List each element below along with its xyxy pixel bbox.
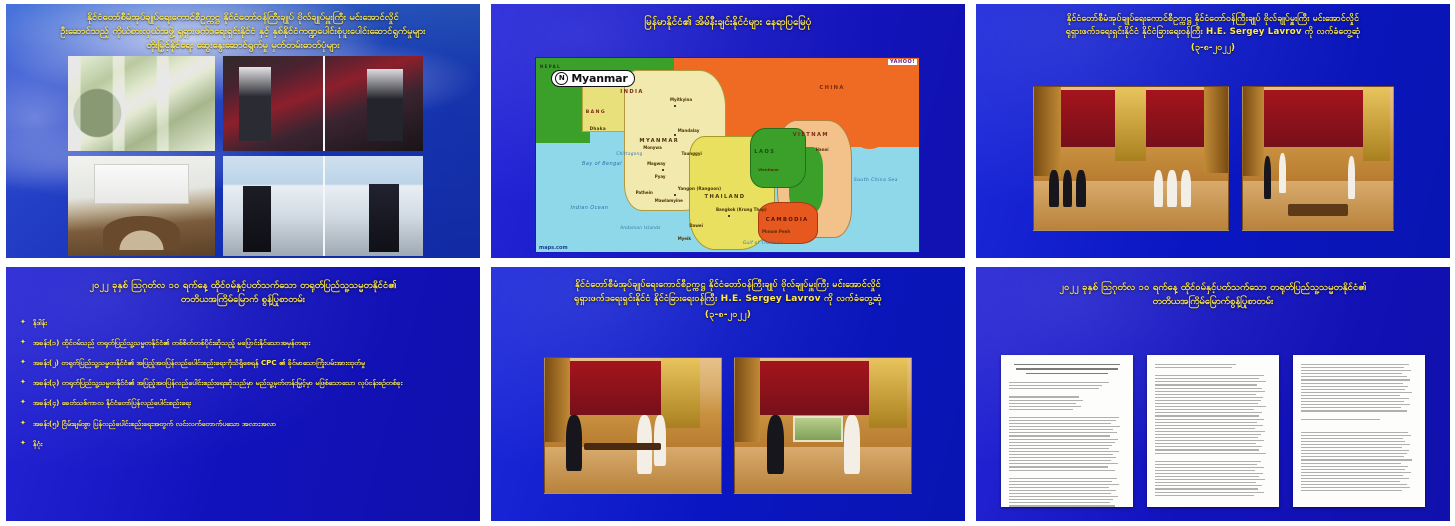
document-text-line — [1009, 454, 1113, 455]
document-text-line — [1009, 432, 1117, 433]
document-text-line — [1155, 467, 1264, 468]
document-text-line — [1301, 450, 1409, 451]
standing-aide — [1279, 153, 1287, 193]
document-text-line — [1155, 449, 1259, 450]
document-text-line — [1009, 490, 1116, 491]
slide-lavrov-meeting: နိုင်ငံတော်စီမံအုပ်ချုပ်ရေးကောင်စီဥက္ကဋ္… — [976, 4, 1450, 258]
curtain-right — [1204, 87, 1227, 173]
document-text-line — [1009, 451, 1119, 452]
slide-2-title-line-1: မြန်မာနိုင်ငံ၏ အိမ်နီးချင်းနိုင်ငံများ န… — [511, 16, 945, 30]
document-text-line — [1301, 401, 1404, 402]
map-city-vientiane: Vientiane — [758, 167, 778, 172]
slide-5-title-line-2: ရုရှားဖက်ဒရေးရှင်းနိုင်ငံ နိုင်ငံခြားရေး… — [509, 293, 947, 307]
slide-neighbour-map: မြန်မာနိုင်ငံ၏ အိမ်နီးချင်းနိုင်ငံများ န… — [491, 4, 965, 258]
document-text-line — [1301, 383, 1403, 384]
slide-1-title-line-3: တိုးမြှင့်နိုင်ရေး ဆွေးနွေးဆောင်ရွက်မှု … — [20, 39, 466, 53]
document-text-line — [1301, 487, 1410, 488]
document-text-line — [1301, 419, 1380, 420]
map-city-taunggyi: Taunggyi — [682, 151, 702, 156]
document-text-line — [1155, 403, 1258, 404]
document-text-line — [1009, 445, 1112, 446]
document-spacer — [1301, 493, 1417, 498]
document-text-line — [1155, 419, 1264, 420]
slide-panel-3[interactable]: နိုင်ငံတော်စီမံအုပ်ချုပ်ရေးကောင်စီဥက္ကဋ္… — [970, 0, 1455, 263]
document-text-line — [1009, 463, 1118, 464]
slide-5-title: နိုင်ငံတော်စီမံအုပ်ချုပ်ရေးကောင်စီဥက္ကဋ္… — [491, 267, 965, 323]
document-text-line — [1155, 453, 1266, 454]
contents-list: ✦ နိဒါန်း ✦ အခန်း(၁) ထိုင်ဝမ်သည် တရုတ်ပြ… — [20, 317, 464, 450]
bullet-marker-icon: ✦ — [20, 317, 26, 329]
map-north-pill: N Myanmar — [551, 70, 634, 87]
document-text-line — [1301, 376, 1407, 377]
red-backdrop — [1264, 90, 1375, 147]
document-text-line — [1155, 440, 1264, 441]
document-text-line — [1301, 370, 1411, 371]
document-text-line — [1009, 409, 1073, 410]
map-city-yangon: Yangon (Rangoon) — [678, 186, 721, 191]
compass-north-icon: N — [555, 72, 568, 85]
document-text-line — [1301, 386, 1408, 387]
document-text-line — [1009, 493, 1111, 494]
document-text-line — [1301, 410, 1407, 411]
document-text-line — [1009, 420, 1116, 421]
visiting-minister — [1264, 156, 1272, 199]
garden-walkway-photo — [68, 56, 215, 151]
bullet-marker-icon: ✦ — [20, 418, 26, 430]
document-text-line — [1009, 502, 1110, 503]
carpet-floor — [735, 447, 911, 493]
map-label-india: INDIA — [620, 89, 644, 95]
list-item[interactable]: ✦ အခန်း(၂) တရုတ်ပြည်သူ့သမ္မတနိုင်ငံ၏ အပြ… — [20, 357, 464, 369]
document-text-line — [1009, 460, 1111, 461]
map-city-mawlamyine: Mawlamyine — [655, 198, 683, 203]
document-text-line — [1301, 469, 1405, 470]
gilded-throne — [869, 358, 908, 428]
map-label-bay-of-bengal: Bay of Bengal — [582, 161, 622, 167]
document-text-line — [1301, 444, 1410, 445]
bullet-marker-icon: ✦ — [20, 377, 26, 389]
document-text-line — [1155, 461, 1261, 462]
curtain-left — [735, 358, 760, 442]
slide-2-title: မြန်မာနိုင်ငံ၏ အိမ်နီးချင်းနိုင်ငံများ န… — [491, 4, 965, 30]
document-heading-line — [1014, 364, 1121, 365]
gift-photo-pair — [491, 357, 965, 494]
document-heading-line — [1016, 368, 1118, 369]
slide-4-title: ၂၀၂၂ ခုနှစ် ဩဂုတ်လ ၁၀ ရက်နေ့ ထိုင်ဝမ်နှင… — [6, 267, 480, 307]
bullet-marker-icon: ✦ — [20, 397, 26, 409]
map-label-thailand: THAILAND — [705, 194, 746, 200]
list-item[interactable]: ✦ အခန်း(၅) ငြိမ်းချမ်းစွာ ပြန်လည်ပေါင်းစ… — [20, 418, 464, 430]
slide-6-title-line-1: ၂၀၂၂ ခုနှစ် ဩဂုတ်လ ၁၀ ရက်နေ့ ထိုင်ဝမ်နှင… — [990, 281, 1436, 295]
list-item-label: နိဂုံး — [33, 438, 464, 450]
list-item-label: အခန်း(၅) ငြိမ်းချမ်းစွာ ပြန်လည်ပေါင်းစည်… — [33, 418, 464, 430]
document-text-line — [1009, 499, 1113, 500]
document-text-line — [1155, 479, 1265, 480]
map-city-dot — [674, 134, 676, 136]
document-text-line — [1301, 459, 1412, 460]
document-text-line — [1301, 472, 1411, 473]
document-text-line — [1009, 457, 1116, 458]
document-text-line — [1155, 378, 1259, 379]
document-text-line — [1155, 470, 1255, 471]
document-text-line — [1155, 492, 1264, 493]
slide-delegation-collage: နိုင်ငံတော်စီမံအုပ်ချုပ်ရေးကောင်စီဥက္ကဋ္… — [6, 4, 480, 258]
list-item[interactable]: ✦ နိဒါန်း — [20, 317, 464, 329]
seated-official — [1167, 170, 1177, 207]
signing-ceremony-photo — [223, 156, 423, 256]
document-text-line — [1301, 389, 1405, 390]
list-item[interactable]: ✦ အခန်း(၄) ခေတ်သစ်ကာလ နိုင်ငံတော်ပြန်လည်… — [20, 397, 464, 409]
slide-upr-document-pages: ၂၀၂၂ ခုနှစ် ဩဂုတ်လ ၁၀ ရက်နေ့ ထိုင်ဝမ်နှင… — [976, 267, 1450, 521]
document-text-line — [1301, 367, 1404, 368]
handshake-flags-photo — [223, 56, 423, 151]
list-item-label: အခန်း(၂) တရုတ်ပြည်သူ့သမ္မတနိုင်ငံ၏ အပြည့… — [33, 357, 464, 369]
slide-lavrov-gift-exchange: နိုင်ငံတော်စီမံအုပ်ချုပ်ရေးကောင်စီဥက္ကဋ္… — [491, 267, 965, 521]
slide-3-date: (၃-၈-၂၀၂၂) — [994, 42, 1432, 55]
slide-upr-third-cycle: ၂၀၂၂ ခုနှစ် ဩဂုတ်လ ၁၀ ရက်နေ့ ထိုင်ဝမ်နှင… — [6, 267, 480, 521]
visiting-minister — [767, 415, 785, 474]
photo-collage — [68, 56, 423, 256]
document-text-line — [1009, 439, 1118, 440]
host-official — [1348, 156, 1356, 199]
map-brand-watermark: YAHOO! — [888, 59, 917, 65]
slide-contact-sheet: နိုင်ငံတော်စီမံအုပ်ချုပ်ရေးကောင်စီဥက္ကဋ္… — [0, 0, 1455, 526]
gilded-throne — [661, 358, 700, 428]
document-text-line — [1155, 473, 1263, 474]
map-city-dot — [728, 215, 730, 217]
document-text-line — [1155, 485, 1262, 486]
map-city-myitkyina: Myitkyina — [670, 97, 692, 102]
document-text-line — [1155, 431, 1265, 432]
document-text-line — [1155, 476, 1259, 477]
document-text-line — [1155, 388, 1262, 389]
map-label-cambodia: CAMBODIA — [766, 217, 809, 223]
document-text-line — [1301, 481, 1400, 482]
map-label-andaman-islands: Andaman Islands — [620, 225, 660, 230]
slide-panel-6[interactable]: ၂၀၂၂ ခုနှစ် ဩဂုတ်လ ၁၀ ရက်နေ့ ထိုင်ဝမ်နှင… — [970, 263, 1455, 526]
map-city-magway: Magway — [647, 161, 665, 166]
map-label-chittagong: Chittagong — [616, 151, 642, 156]
slide-4-title-line-1: ၂၀၂၂ ခုနှစ် ဩဂုတ်လ ၁၀ ရက်နေ့ ထိုင်ဝမ်နှင… — [20, 279, 466, 293]
document-text-line — [1155, 384, 1257, 385]
document-text-line — [1155, 425, 1263, 426]
map-credit-text: maps.com — [539, 245, 568, 251]
list-item-label: အခန်း(၃) တရုတ်ပြည်သူ့သမ္မတနိုင်ငံ၏ အပြည့… — [33, 377, 464, 389]
slide-1-title-line-2: ဦးဆောင်သည့် ကိုယ်စားလှယ်အဖွဲ့ ရုရှားဖက်ဒ… — [20, 25, 466, 39]
list-item-label: နိဒါန်း — [33, 317, 464, 329]
map-label-nepal: NEPAL — [540, 64, 561, 69]
document-text-line — [1301, 432, 1408, 433]
map-label-myanmar: MYANMAR — [639, 138, 679, 144]
map-city-dawei: Dawei — [689, 223, 703, 228]
list-item[interactable]: ✦ အခန်း(၃) တရုတ်ပြည်သူ့သမ္မတနိုင်ငံ၏ အပြ… — [20, 377, 464, 389]
document-text-line — [1155, 434, 1261, 435]
document-text-line — [1301, 463, 1401, 464]
document-text-line — [1155, 415, 1259, 416]
slide-panel-4[interactable]: ၂၀၂၂ ခုနှစ် ဩဂုတ်လ ၁၀ ရက်နေ့ ထိုင်ဝမ်နှင… — [0, 263, 485, 526]
document-text-line — [1301, 435, 1411, 436]
map-label-indian-ocean: Indian Ocean — [570, 205, 608, 211]
list-item-label: အခန်း(၄) ခေတ်သစ်ကာလ နိုင်ငံတော်ပြန်လည်ပေ… — [33, 397, 464, 409]
document-text-line — [1155, 394, 1256, 395]
document-text-line — [1009, 429, 1113, 430]
slide-3-title-line-1: နိုင်ငံတော်စီမံအုပ်ချုပ်ရေးကောင်စီဥက္ကဋ္… — [994, 13, 1432, 26]
seated-official — [1181, 170, 1191, 207]
document-heading-line — [1026, 373, 1107, 374]
map-label-bangladesh: BANG — [586, 110, 606, 115]
gift-presentation-photo — [544, 357, 722, 494]
map-label-china: CHINA — [819, 85, 844, 91]
framed-painting-gift — [793, 416, 843, 442]
slide-4-title-line-2: တတိယအကြိမ်မြောက် စွန့်ပြုစာတမ်း — [20, 293, 466, 307]
map-city-pathein: Pathein — [636, 190, 653, 195]
document-text-line — [1155, 400, 1261, 401]
document-text-line — [1301, 364, 1409, 365]
low-table — [1288, 204, 1348, 215]
slide-1-title-line-1: နိုင်ငံတော်စီမံအုပ်ချုပ်ရေးကောင်စီဥက္ကဋ္… — [20, 11, 466, 25]
curtain-left — [1034, 87, 1061, 176]
document-text-line — [1009, 496, 1118, 497]
document-text-line — [1155, 422, 1257, 423]
document-text-line — [1301, 398, 1409, 399]
slide-1-title: နိုင်ငံတော်စီမံအုပ်ချုပ်ရေးကောင်စီဥက္ကဋ္… — [6, 4, 480, 52]
map-label-laos: LAOS — [754, 149, 775, 155]
document-text-line — [1009, 442, 1115, 443]
document-text-line — [1155, 367, 1232, 368]
map-pill-label: Myanmar — [571, 72, 627, 85]
map-city-myeik: Myeik — [678, 236, 691, 241]
seated-delegate — [1063, 170, 1073, 207]
meeting-photo-pair — [976, 86, 1450, 231]
photo-divider — [323, 156, 325, 256]
document-text-line — [1155, 364, 1236, 365]
seated-official — [1154, 170, 1164, 207]
document-text-line — [1009, 406, 1081, 407]
document-text-line — [1009, 385, 1102, 386]
document-text-line — [1155, 488, 1258, 489]
map-city-monywa: Monywa — [643, 145, 662, 150]
document-page-3[interactable] — [1293, 355, 1425, 507]
map-city-dot — [674, 194, 676, 196]
slide-panel-1[interactable]: နိုင်ငံတော်စီမံအုပ်ချုပ်ရေးကောင်စီဥက္ကဋ္… — [0, 0, 485, 263]
slide-panel-5[interactable]: နိုင်ငံတော်စီမံအုပ်ချုပ်ရေးကောင်စီဥက္ကဋ္… — [485, 263, 970, 526]
slide-6-title: ၂၀၂၂ ခုနှစ် ဩဂုတ်လ ၁၀ ရက်နေ့ ထိုင်ဝမ်နှင… — [976, 267, 1450, 309]
document-text-line — [1009, 435, 1110, 436]
document-text-line — [1009, 466, 1108, 467]
document-text-line — [1009, 388, 1099, 389]
document-text-line — [1301, 453, 1407, 454]
document-text-line — [1155, 381, 1266, 382]
document-text-line — [1155, 409, 1254, 410]
map-city-mandalay: Mandalay — [678, 128, 700, 133]
document-page-2[interactable] — [1147, 355, 1279, 507]
document-spacer — [1155, 498, 1271, 503]
gilded-throne — [1115, 87, 1146, 161]
document-text-line — [1009, 470, 1115, 471]
document-text-line — [1301, 475, 1403, 476]
attendant — [654, 415, 666, 466]
document-text-line — [1301, 438, 1403, 439]
document-text-line — [1155, 482, 1256, 483]
map-label-vietnam: VIETNAM — [793, 132, 829, 138]
document-text-line — [1301, 379, 1410, 380]
document-text-line — [1301, 478, 1409, 479]
map-city-pyay: Pyay — [655, 174, 666, 179]
map-city-hanoi: Hanoi — [816, 147, 829, 152]
bullet-marker-icon: ✦ — [20, 357, 26, 369]
visiting-minister — [566, 415, 582, 472]
document-text-line — [1155, 375, 1264, 376]
map-label-gulf-of-thailand: Gulf of Thailand — [743, 240, 783, 245]
bullet-marker-icon: ✦ — [20, 337, 26, 349]
document-text-line — [1009, 484, 1119, 485]
map-city-phnom-penh: Phnom Penh — [762, 229, 790, 234]
document-text-line — [1155, 391, 1265, 392]
slide-6-title-line-2: တတိယအကြိမ်မြောက်စွန့်ပြုစာတမ်း — [990, 295, 1436, 309]
document-page-row — [976, 355, 1450, 507]
document-text-line — [1301, 490, 1402, 491]
document-text-line — [1155, 464, 1257, 465]
document-text-line — [1301, 441, 1405, 442]
document-text-line — [1155, 412, 1262, 413]
seated-delegate — [1076, 170, 1086, 207]
audience-hall-wide-photo — [1033, 86, 1229, 231]
document-text-line — [1009, 481, 1112, 482]
document-text-line — [1009, 382, 1109, 383]
slide-5-title-line-1: နိုင်ငံတော်စီမံအုပ်ချုပ်ရေးကောင်စီဥက္ကဋ္… — [509, 279, 947, 293]
document-text-line — [1009, 426, 1120, 427]
slide-3-title: နိုင်ငံတော်စီမံအုပ်ချုပ်ရေးကောင်စီဥက္ကဋ္… — [976, 4, 1450, 55]
document-text-line — [1009, 505, 1115, 506]
document-text-line — [1009, 403, 1076, 404]
document-text-line — [1155, 443, 1256, 444]
southeast-asia-map: CHINA INDIA BANG Dhaka MYANMAR LAOS VIET… — [535, 57, 920, 253]
document-text-line — [1009, 448, 1109, 449]
slide-5-date: (၃-၈-၂၀၂၂) — [509, 309, 947, 323]
document-text-line — [1009, 423, 1111, 424]
slide-3-title-line-2: ရုရှားဖက်ဒရေးရှင်းနိုင်ငံ နိုင်ငံခြားရေး… — [994, 26, 1432, 39]
document-text-line — [1301, 392, 1412, 393]
list-item[interactable]: ✦ အခန်း(၁) ထိုင်ဝမ်သည် တရုတ်ပြည်သူ့သမ္မတ… — [20, 337, 464, 349]
document-text-line — [1155, 428, 1255, 429]
document-text-line — [1009, 400, 1083, 401]
document-text-line — [1009, 478, 1117, 479]
document-text-line — [1301, 373, 1402, 374]
document-text-line — [1301, 466, 1408, 467]
map-region-hainan — [858, 136, 881, 150]
document-text-line — [1301, 407, 1401, 408]
map-city-dot — [674, 105, 676, 107]
map-city-bangkok: Bangkok (Krung Thep) — [716, 207, 767, 212]
list-item[interactable]: ✦ နိဂုံး — [20, 438, 464, 450]
document-text-line — [1009, 396, 1079, 397]
document-text-line — [1155, 446, 1262, 447]
gift-table — [584, 443, 661, 450]
document-text-line — [1155, 437, 1258, 438]
bullet-marker-icon: ✦ — [20, 438, 26, 450]
map-label-dhaka: Dhaka — [590, 126, 606, 131]
document-text-line — [1155, 397, 1263, 398]
painting-handover-photo — [734, 357, 912, 494]
document-text-line — [1301, 395, 1400, 396]
conference-hall-photo — [68, 156, 215, 256]
gilded-throne — [1363, 87, 1390, 161]
document-text-line — [1155, 406, 1266, 407]
bilateral-talks-photo — [1242, 86, 1394, 231]
document-page-1[interactable] — [1001, 355, 1133, 507]
map-label-south-china-sea: South China Sea — [854, 178, 898, 183]
document-text-line — [1009, 417, 1119, 418]
document-text-line — [1009, 487, 1109, 488]
host-official — [844, 415, 860, 474]
list-item-label: အခန်း(၁) ထိုင်ဝမ်သည် တရုတ်ပြည်သူ့သမ္မတနိ… — [33, 337, 464, 349]
slide-panel-2[interactable]: မြန်မာနိုင်ငံ၏ အိမ်နီးချင်းနိုင်ငံများ န… — [485, 0, 970, 263]
document-text-line — [1301, 447, 1402, 448]
curtain-left — [1243, 87, 1264, 176]
document-text-line — [1155, 495, 1254, 496]
photo-divider — [323, 56, 325, 151]
document-text-line — [1301, 484, 1407, 485]
document-text-line — [1301, 404, 1410, 405]
document-text-line — [1301, 456, 1404, 457]
seated-delegate — [1049, 170, 1059, 207]
